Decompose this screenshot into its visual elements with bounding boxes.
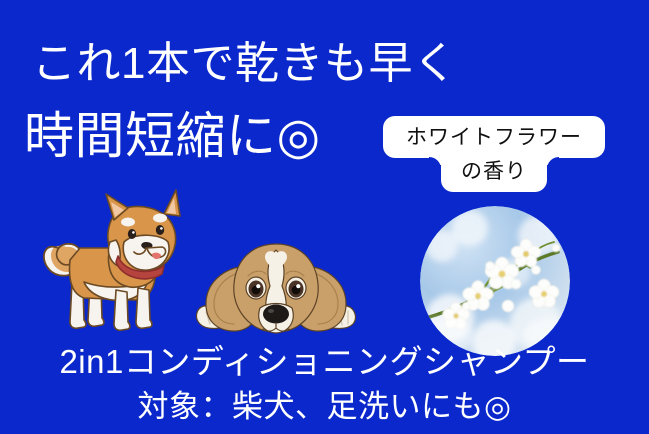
beagle-illustration — [192, 240, 360, 338]
scent-badge: ホワイトフラワー の香り — [383, 116, 605, 192]
scent-badge-line-1: ホワイトフラワー — [383, 116, 605, 158]
headline-line-2: 時間短縮に◎ — [24, 106, 321, 166]
footer-product-name: 2in1コンディショニングシャンプー — [0, 342, 649, 382]
footer-target-note: 対象：柴犬、足洗いにも◎ — [0, 388, 649, 426]
product-banner: これ1本で乾きも早く 時間短縮に◎ ホワイトフラワー の香り — [0, 0, 649, 434]
scent-badge-line-2: の香り — [441, 157, 547, 192]
headline-line-1: これ1本で乾きも早く — [32, 38, 457, 90]
shiba-inu-illustration — [24, 186, 196, 338]
flower-photo-circle — [420, 206, 570, 356]
